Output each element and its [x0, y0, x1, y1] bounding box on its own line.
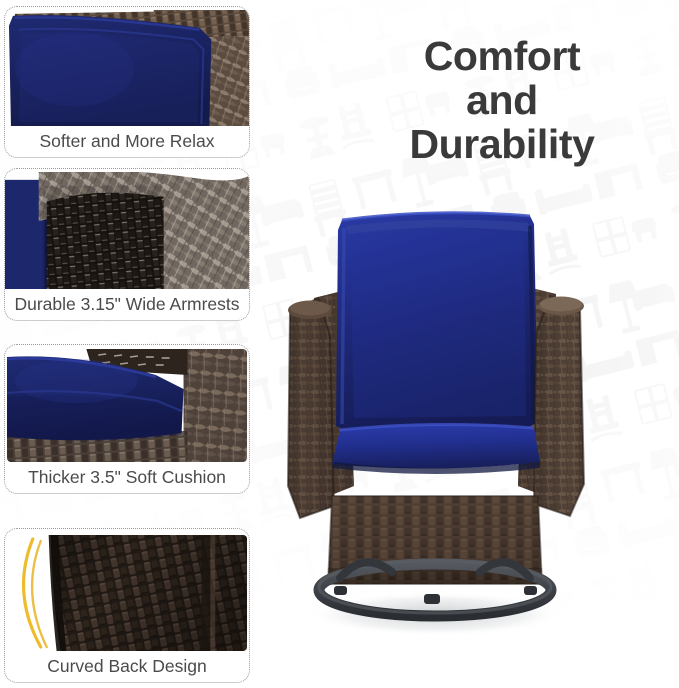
- feature-caption: Softer and More Relax: [5, 126, 249, 157]
- page-title: Comfort and Durability: [342, 34, 662, 166]
- feature-panel-thick-cushion: Thicker 3.5" Soft Cushion: [4, 344, 250, 494]
- feature-panel-wide-armrests: Durable 3.15" Wide Armrests: [4, 168, 250, 321]
- feature-panel-curved-back: Curved Back Design: [4, 528, 250, 683]
- navy-back-cushion-closeup: [5, 10, 249, 126]
- hero-product-image: [284, 186, 614, 646]
- wide-armrest-closeup: [5, 172, 249, 289]
- feature-caption: Thicker 3.5" Soft Cushion: [5, 462, 249, 493]
- infographic-canvas: Comfort and Durability: [0, 0, 679, 688]
- thick-seat-cushion-closeup: [7, 349, 247, 462]
- feature-caption: Durable 3.15" Wide Armrests: [5, 289, 249, 320]
- curved-back-closeup: [7, 535, 247, 651]
- feature-caption: Curved Back Design: [5, 651, 249, 682]
- feature-panel-softer-relax: Softer and More Relax: [4, 6, 250, 158]
